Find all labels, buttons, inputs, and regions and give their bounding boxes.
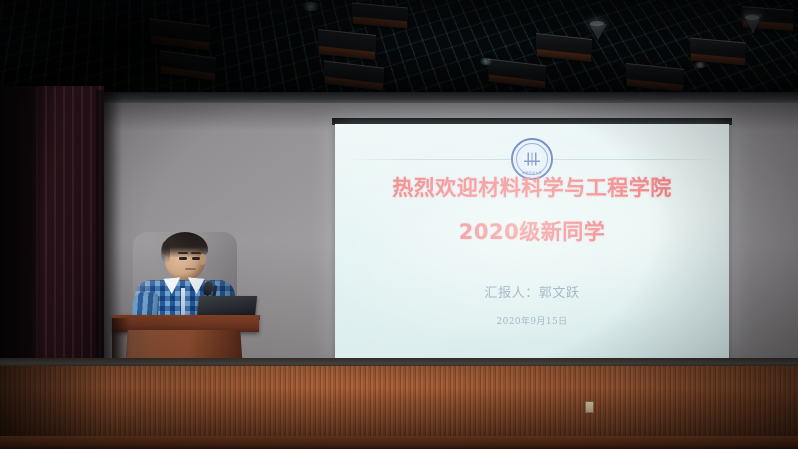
presenter-ear <box>199 254 206 265</box>
presenter-brow <box>191 252 201 254</box>
slide-title-line2: 2020级新同学 <box>335 222 729 243</box>
projection-screen: 中国农业大学 热烈欢迎材料科学与工程学院 2020级新同学 汇报人：郭文跃 20… <box>335 124 729 358</box>
presenter-eye <box>192 257 200 260</box>
seal-emblem <box>524 153 540 166</box>
university-seal-icon: 中国农业大学 <box>511 138 553 180</box>
wall-socket <box>585 401 594 413</box>
podium-top <box>112 315 259 332</box>
presenter-eye <box>179 257 187 260</box>
slide-presenter-line: 汇报人：郭文跃 <box>335 282 729 301</box>
presenter-brow <box>178 252 188 254</box>
seal-label: 中国农业大学 <box>513 172 551 175</box>
presenter-hair-side <box>161 241 170 263</box>
slide-title-line1: 热烈欢迎材料科学与工程学院 <box>335 178 729 199</box>
presenter-mouth <box>185 268 196 270</box>
auditorium-scene: 中国农业大学 热烈欢迎材料科学与工程学院 2020级新同学 汇报人：郭文跃 20… <box>0 0 798 449</box>
slide-date-line: 2020年9月15日 <box>335 314 729 327</box>
floor-strip <box>0 436 798 449</box>
